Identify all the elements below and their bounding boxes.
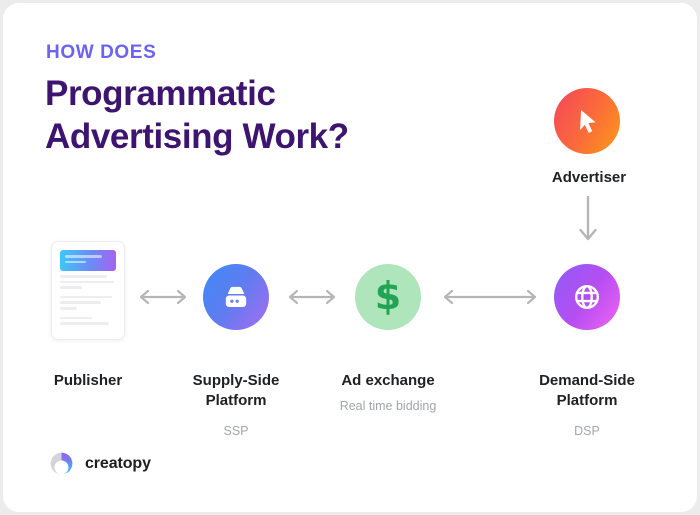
dsp-label-text: Demand-Side Platform — [539, 372, 635, 409]
connector-ad-exchange-to-dsp — [441, 286, 539, 308]
placeholder-line — [60, 317, 92, 320]
connector-advertiser-to-dsp — [572, 196, 604, 246]
server-icon — [219, 280, 253, 314]
ssp-sublabel: SSP — [166, 423, 306, 439]
dsp-label: Demand-Side Platform — [517, 371, 657, 411]
publisher-webpage-card — [51, 241, 125, 340]
placeholder-line — [60, 296, 112, 299]
ad-exchange-icon-circle: $ — [355, 264, 421, 330]
page-title-line-2: Advertising Work? — [45, 115, 465, 158]
creatopy-wordmark: creatopy — [85, 455, 151, 473]
ad-exchange-label: Ad exchange — [317, 371, 459, 391]
ssp-label-text: Supply-Side Platform — [193, 372, 280, 409]
advertiser-label: Advertiser — [504, 168, 674, 188]
banner-line — [65, 255, 102, 258]
ssp-icon-circle — [203, 264, 269, 330]
publisher-banner-gradient — [60, 250, 116, 271]
connector-publisher-to-ssp — [137, 286, 189, 308]
placeholder-line — [60, 322, 109, 325]
dsp-sublabel: DSP — [517, 423, 657, 439]
placeholder-line — [60, 301, 101, 304]
placeholder-line — [60, 275, 107, 278]
globe-icon — [569, 279, 605, 315]
dsp-icon-circle — [554, 264, 620, 330]
placeholder-line — [60, 286, 82, 289]
infographic-canvas: HOW DOES Programmatic Advertising Work? … — [0, 0, 700, 515]
ssp-label: Supply-Side Platform — [166, 371, 306, 411]
cursor-arrow-icon — [570, 104, 604, 138]
eyebrow-text: HOW DOES — [46, 43, 156, 62]
creatopy-logo: creatopy — [47, 449, 151, 478]
ad-exchange-sublabel: Real time bidding — [317, 398, 459, 414]
creatopy-ring-logo-icon — [47, 449, 76, 478]
dollar-sign-icon: $ — [375, 277, 401, 315]
connector-ssp-to-ad-exchange — [286, 286, 338, 308]
placeholder-line — [60, 307, 77, 310]
publisher-label: Publisher — [18, 371, 158, 391]
placeholder-line — [60, 281, 114, 284]
page-title: Programmatic Advertising Work? — [45, 72, 465, 159]
advertiser-icon-circle — [554, 88, 620, 154]
page-title-line-1: Programmatic — [45, 72, 465, 115]
banner-line — [65, 261, 86, 264]
